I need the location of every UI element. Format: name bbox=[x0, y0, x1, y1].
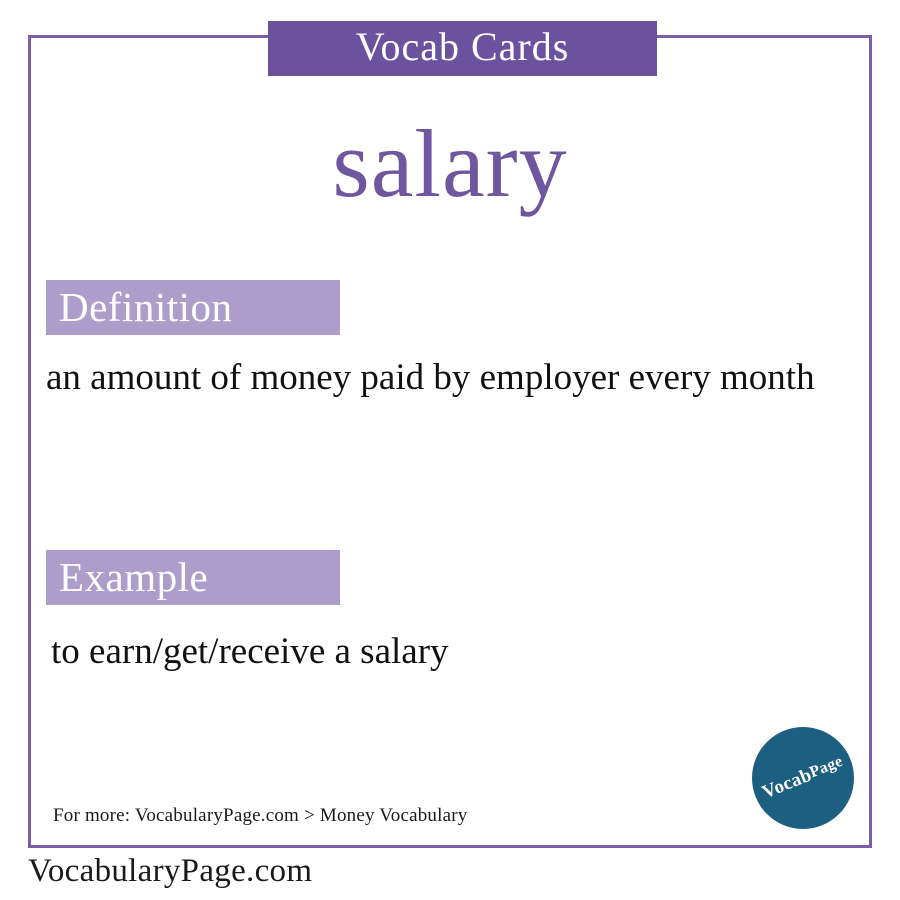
for-more-note: For more: VocabularyPage.com > Money Voc… bbox=[53, 806, 467, 825]
logo-text-main: Vocab bbox=[759, 765, 815, 804]
vocabpage-logo-badge: VocabPage bbox=[752, 727, 854, 829]
logo-text-tail: age bbox=[817, 753, 846, 778]
definition-label-text: Definition bbox=[59, 287, 233, 328]
example-text: to earn/get/receive a salary bbox=[51, 626, 841, 679]
logo-text: VocabPage bbox=[759, 752, 847, 804]
definition-label: Definition bbox=[46, 280, 340, 335]
example-label-text: Example bbox=[59, 557, 208, 598]
example-label: Example bbox=[46, 550, 340, 605]
title-banner: Vocab Cards bbox=[268, 21, 657, 76]
site-name: VocabularyPage.com bbox=[28, 855, 312, 888]
banner-title-text: Vocab Cards bbox=[356, 27, 570, 70]
definition-text: an amount of money paid by employer ever… bbox=[46, 352, 836, 405]
vocab-card: Vocab Cards salary Definition an amount … bbox=[0, 0, 900, 900]
headword: salary bbox=[0, 116, 900, 212]
